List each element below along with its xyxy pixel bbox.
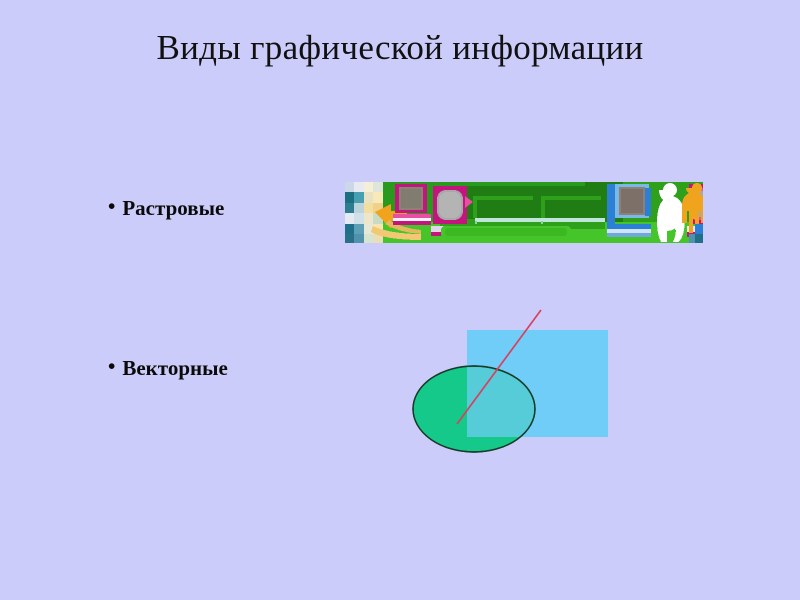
bullet-marker-icon: • — [108, 196, 115, 217]
vector-sample-svg — [400, 300, 620, 460]
page-title: Виды графической информации — [0, 28, 800, 68]
list-item-label: Растровые — [122, 196, 224, 220]
magenta-frame-1 — [393, 184, 431, 225]
raster-sample-svg — [345, 182, 703, 243]
slide: Виды графической информации •Растровые •… — [0, 0, 800, 600]
raster-graphic-sample — [345, 182, 703, 243]
blue-frame — [607, 184, 651, 237]
list-item-vector: •Векторные — [108, 356, 228, 381]
bullet-marker-icon: • — [108, 356, 115, 377]
vector-graphic-sample — [400, 300, 620, 460]
list-item-label: Векторные — [122, 356, 227, 380]
list-item-raster: •Растровые — [108, 196, 224, 221]
